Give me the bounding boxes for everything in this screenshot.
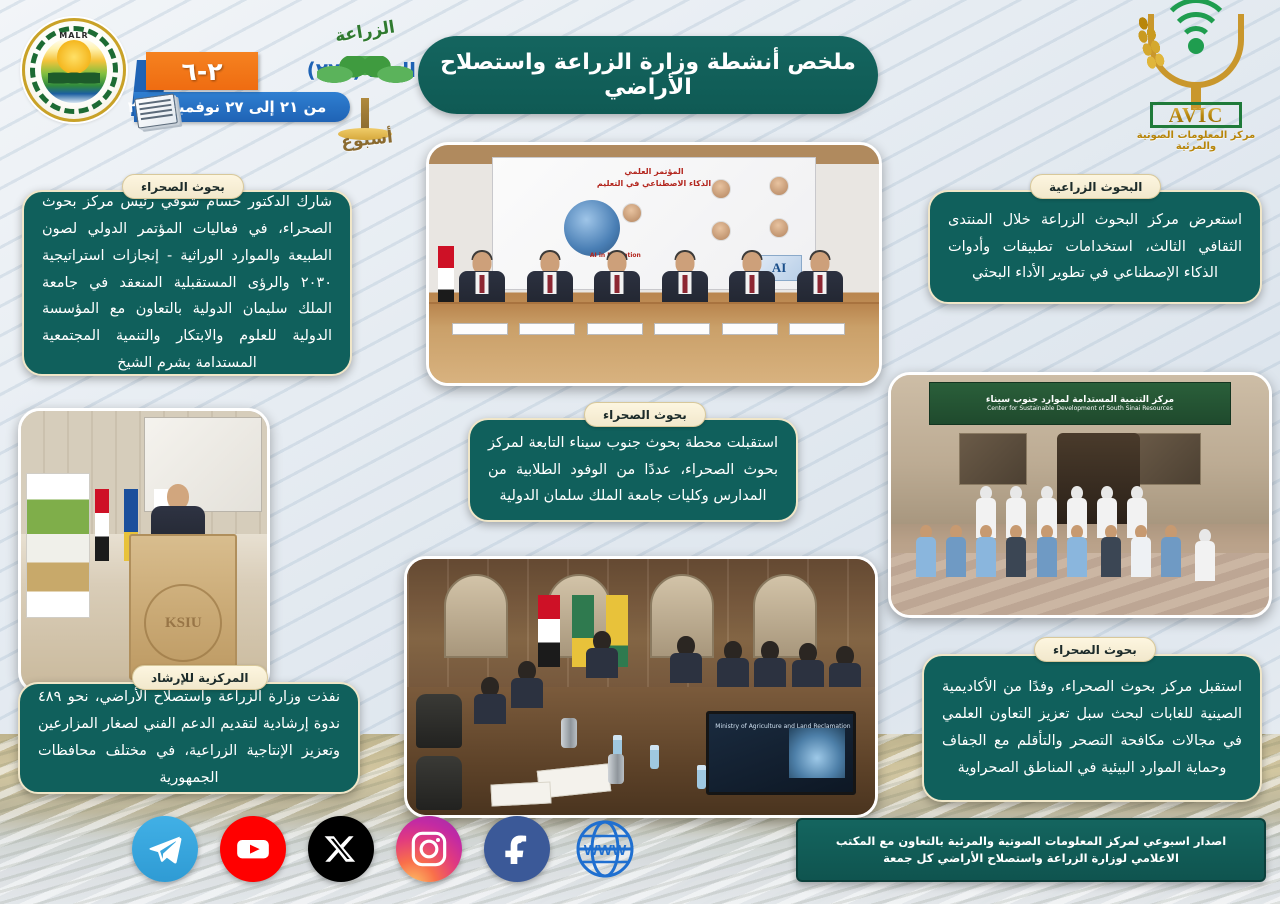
badge-desert-research-3: بحوث الصحراء [1034, 637, 1156, 662]
x-twitter-icon[interactable] [308, 816, 374, 882]
hall-arch-1 [444, 574, 508, 658]
group-student-5 [1035, 525, 1059, 577]
card-body-1: شارك الدكتور حسام شوقي رئيس مركز بحوث ال… [42, 189, 332, 377]
card-desert-research-china: استقبل مركز بحوث الصحراء، وفدًا من الأكا… [922, 654, 1262, 802]
badge-central-extension: المركزية للإرشاد [132, 665, 268, 690]
page-title: ملخص أنشطة وزارة الزراعة واستصلاح الأراض… [418, 36, 878, 114]
nameplate-4 [654, 323, 710, 335]
badge-desert-research-2: بحوث الصحراء [584, 402, 706, 427]
malr-ministry-logo: MALR [22, 18, 126, 122]
group-adult-2 [1129, 525, 1153, 577]
nameplate-6 [789, 323, 845, 335]
event-rollup-banner [26, 473, 90, 619]
presentation-monitor: Ministry of Agriculture and Land Reclama… [706, 711, 856, 795]
badge-agricultural-research: البحوث الزراعية [1030, 174, 1161, 199]
photo-meeting-content: Ministry of Agriculture and Land Reclama… [407, 559, 875, 815]
podium-stand: KSIU [129, 534, 237, 680]
card-body-4: نفذت وزارة الزراعة واستصلاح الأراضي، نحو… [38, 684, 340, 791]
instagram-icon[interactable] [396, 816, 462, 882]
nameplate-5 [722, 323, 778, 335]
speaker-portrait-3 [711, 221, 731, 241]
speaker-portrait-4 [769, 218, 789, 238]
nameplate-1 [452, 323, 508, 335]
screen-title-ar: المؤتمر العلميالذكاء الاصطناعي في التعلي… [493, 166, 815, 190]
issue-range-ribbon: ٢-٦ [146, 52, 258, 90]
telegram-icon[interactable] [132, 816, 198, 882]
avic-logo: AVIC مركز المعلومات الصوتية والمرئية [1126, 6, 1266, 146]
ksiu-seal: KSIU [144, 584, 222, 662]
card-body-2: استعرض مركز البحوث الزراعة خلال المنتدى … [948, 207, 1242, 287]
card-agricultural-research-ai: استعرض مركز البحوث الزراعة خلال المنتدى … [928, 190, 1262, 304]
agriculture-week-emblem: الزراعة أسبوع [305, 22, 425, 152]
ai-brain-graphic [564, 200, 620, 256]
youtube-icon[interactable] [220, 816, 286, 882]
infographic-page: MALR ٢-٦ العدد (٢٧٥) من ٢١ إلى ٢٧ نوفمبر… [0, 0, 1280, 904]
delegate-3 [753, 641, 787, 687]
meeting-chair-2 [416, 756, 462, 810]
photo-group-content: مركز التنمية المستدامة لموارد جنوب سيناء… [891, 375, 1269, 615]
water-bottle-2 [650, 745, 659, 769]
palm-fronds-icon [317, 56, 413, 102]
signboard-english: Center for Sustainable Development of So… [987, 405, 1173, 412]
group-student-3 [974, 525, 998, 577]
group-adult-1 [1099, 525, 1123, 577]
meeting-document-2 [491, 781, 552, 806]
photo-podium-content: KSIU [21, 411, 267, 691]
thermos-flask-1 [561, 718, 577, 748]
malr-logo-label: MALR [25, 31, 123, 40]
social-media-bar: WWW [132, 816, 638, 882]
card-body-5: استقبل مركز بحوث الصحراء، وفدًا من الأكا… [942, 674, 1242, 781]
emblem-top-label: الزراعة [310, 14, 420, 51]
speaker-portrait-1 [711, 179, 731, 199]
palm-trunk-icon [361, 98, 369, 132]
head-table-person [585, 631, 619, 677]
photo-meeting-hall: Ministry of Agriculture and Land Reclama… [404, 556, 878, 818]
delegate-4 [791, 643, 825, 689]
conference-table [429, 302, 879, 383]
avic-subtitle: مركز المعلومات الصوتية والمرئية [1126, 130, 1266, 152]
monitor-image [789, 728, 845, 778]
photo-conference-content: المؤتمر العلميالذكاء الاصطناعي في التعلي… [429, 145, 879, 383]
delegate-5 [828, 646, 862, 692]
card-desert-research-students: استقبلت محطة بحوث جنوب سيناء التابعة لمر… [468, 418, 798, 522]
badge-desert-research-1: بحوث الصحراء [122, 174, 244, 199]
group-student-6 [1065, 525, 1089, 577]
signboard-arabic: مركز التنمية المستدامة لموارد جنوب سيناء [986, 395, 1174, 405]
footer-credit-bar: اصدار اسبوعي لمركز المعلومات الصوتية وال… [796, 818, 1266, 882]
thermos-flask-2 [608, 754, 624, 784]
photo-conference-panel: المؤتمر العلميالذكاء الاصطناعي في التعلي… [426, 142, 882, 386]
speaker-portrait-5 [622, 203, 642, 223]
group-student-2 [944, 525, 968, 577]
building-window-right [1133, 433, 1201, 486]
group-student-4 [1004, 525, 1028, 577]
foreground-attendee-1 [473, 677, 507, 723]
water-bottle-3 [697, 765, 706, 789]
website-icon[interactable]: WWW [572, 816, 638, 882]
card-desert-research-conference: شارك الدكتور حسام شوقي رئيس مركز بحوث ال… [22, 190, 352, 376]
photo-podium-speaker: KSIU [18, 408, 270, 694]
avic-name-text: AVIC [1169, 103, 1224, 128]
egypt-flag-meeting [538, 595, 560, 667]
delegate-1 [669, 636, 703, 682]
delegate-2 [716, 641, 750, 687]
newspaper-icon [134, 93, 178, 128]
group-student-1 [914, 525, 938, 577]
facebook-icon[interactable] [484, 816, 550, 882]
group-adult-4 [1193, 529, 1217, 581]
wheat-plants-icon [48, 68, 100, 88]
nameplate-2 [519, 323, 575, 335]
card-body-3: استقبلت محطة بحوث جنوب سيناء التابعة لمر… [488, 430, 778, 510]
center-signboard: مركز التنمية المستدامة لموارد جنوب سيناء… [929, 382, 1231, 425]
avic-name-plate: AVIC [1150, 102, 1242, 128]
photo-student-group: مركز التنمية المستدامة لموارد جنوب سيناء… [888, 372, 1272, 618]
nameplate-3 [587, 323, 643, 335]
meeting-chair-1 [416, 694, 462, 748]
wave-dot [1188, 38, 1204, 54]
emblem-bottom-label: أسبوع [318, 125, 416, 155]
svg-text:WWW: WWW [584, 842, 627, 859]
speaker-portrait-2 [769, 176, 789, 196]
group-adult-3 [1159, 525, 1183, 577]
egypt-flag-podium [95, 489, 109, 561]
logo-disc [41, 37, 107, 103]
card-central-extension: نفذت وزارة الزراعة واستصلاح الأراضي، نحو… [18, 682, 360, 794]
building-window-left [959, 433, 1027, 486]
foreground-attendee-2 [510, 661, 544, 707]
